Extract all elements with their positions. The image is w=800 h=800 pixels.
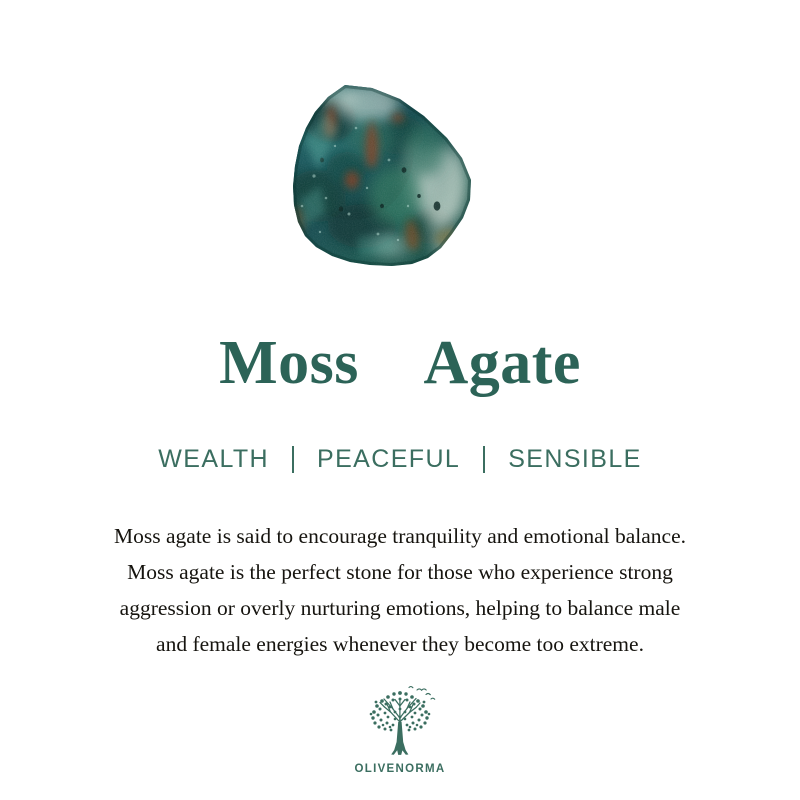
description-line: Moss agate is said to encourage tranquil…: [40, 518, 760, 554]
page-title: Moss Agate: [0, 332, 800, 394]
stone-body: [280, 70, 490, 280]
keyword-list: WEALTH PEACEFUL SENSIBLE: [0, 446, 800, 473]
product-image: [0, 0, 800, 300]
keyword-peaceful: PEACEFUL: [317, 447, 460, 472]
keyword-separator-icon: [292, 446, 294, 473]
description-line: and female energies whenever they become…: [40, 626, 760, 662]
description-line: Moss agate is the perfect stone for thos…: [40, 554, 760, 590]
keyword-sensible: SENSIBLE: [508, 447, 641, 472]
product-info-card: Moss Agate WEALTH PEACEFUL SENSIBLE Moss…: [0, 0, 800, 800]
product-description: Moss agate is said to encourage tranquil…: [40, 518, 760, 662]
description-line: aggression or overly nurturing emotions,…: [40, 590, 760, 626]
moss-agate-stone-illustration: [0, 0, 800, 300]
keyword-wealth: WEALTH: [158, 447, 269, 472]
keyword-separator-icon: [483, 446, 485, 473]
brand-logo: OLIVENORMA: [0, 684, 800, 776]
brand-wordmark: OLIVENORMA: [355, 764, 446, 776]
olive-tree-icon: [357, 684, 443, 762]
